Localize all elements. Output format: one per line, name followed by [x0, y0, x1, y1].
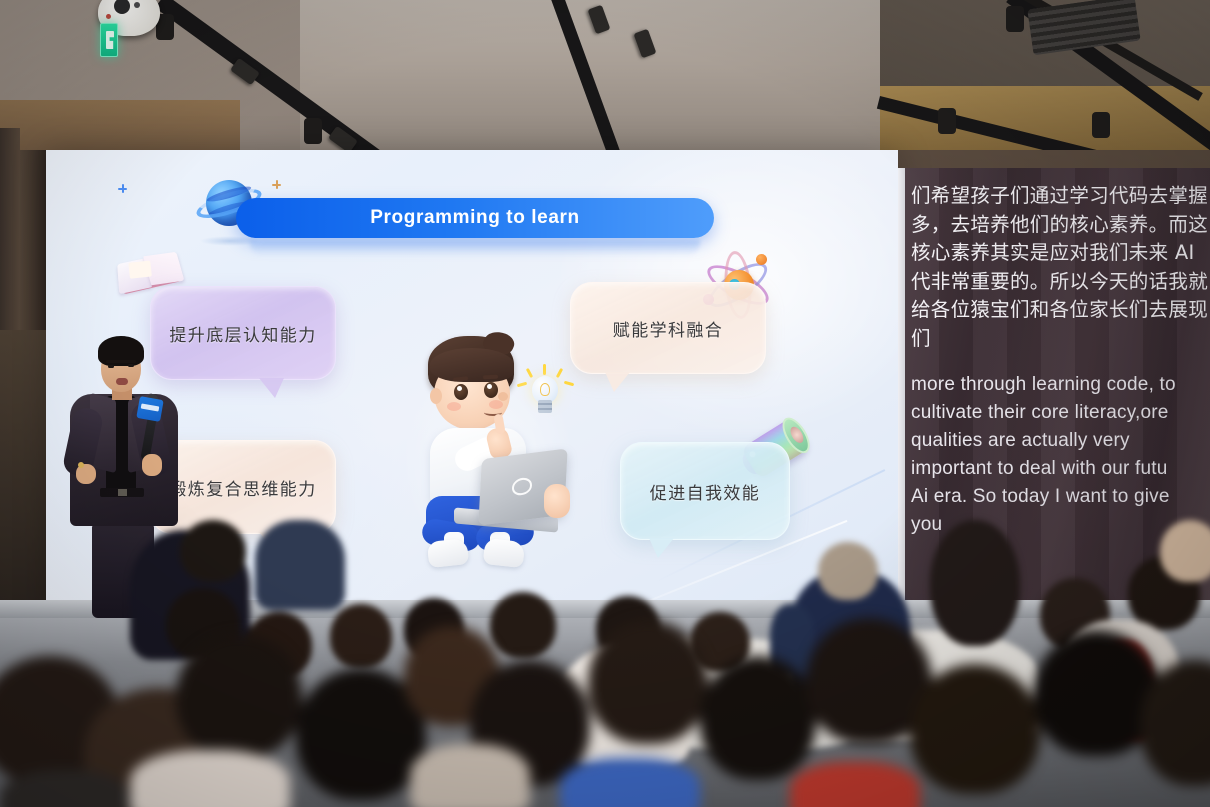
subtitle-line: important to deal with our futu — [911, 455, 1210, 483]
spotlight-icon — [938, 108, 956, 134]
presenter-hand — [142, 454, 162, 476]
sparkle-icon — [272, 180, 281, 189]
camera-lens-icon — [114, 0, 130, 14]
audience-clothing — [0, 770, 130, 807]
slide-bubble-fusion: 赋能学科融合 — [570, 282, 766, 374]
presenter-belt-buckle — [118, 489, 127, 496]
boy-eye-glint — [487, 384, 492, 389]
subtitle-line: more through learning code, to — [911, 371, 1210, 399]
camera-indicator-icon — [134, 2, 140, 8]
boy-hair-fringe — [430, 348, 514, 382]
subtitle-line: Ai era. So today I want to give — [911, 483, 1210, 511]
subtitle-line: 核心素养其实是应对我们未来 AI — [911, 239, 1210, 268]
presenter-ring — [78, 462, 84, 468]
presenter-mouth — [116, 378, 128, 385]
audience-head — [176, 634, 302, 758]
subtitle-line: 给各位猿宝们和各位家长们去展现 — [911, 296, 1210, 325]
presenter-eye — [128, 364, 134, 367]
audience-clothing — [410, 744, 530, 807]
sparkle-icon — [118, 184, 127, 193]
boy-ear — [430, 388, 442, 404]
spotlight-icon — [304, 118, 322, 144]
boy-eye-glint — [457, 386, 462, 391]
slide-title-text: Programming to learn — [370, 207, 579, 229]
subtitle-line: 代非常重要的。所以今天的话我就 — [911, 268, 1210, 297]
audience-head — [1160, 520, 1210, 582]
boy-cheek — [489, 400, 503, 409]
book-inner-page — [128, 261, 152, 279]
subtitle-english-block: more through learning code, to cultivate… — [911, 371, 1210, 539]
audience-clothing — [560, 758, 700, 807]
ceiling-beam — [548, 0, 629, 160]
audience-head — [588, 620, 708, 744]
audience-head — [910, 664, 1040, 794]
slide-title-banner: Programming to learn — [236, 198, 714, 238]
audience-head — [700, 656, 816, 780]
track-light-icon — [634, 29, 657, 59]
boy-nose — [498, 392, 508, 401]
boy-hand — [544, 484, 570, 518]
bubble-tail-icon — [259, 378, 284, 398]
presenter-eye — [108, 365, 114, 368]
audience-clothing — [790, 762, 920, 807]
spotlight-icon — [1006, 6, 1024, 32]
bubble-label: 赋能学科融合 — [613, 316, 723, 341]
status-indicator-dot — [106, 14, 111, 19]
subtitle-line: 多，去培养他们的核心素养。而这 — [911, 211, 1210, 240]
subtitle-line: cultivate their core literacy,ore — [911, 399, 1210, 427]
subtitle-line: qualities are actually very — [911, 427, 1210, 455]
ceiling — [0, 0, 1210, 160]
title-reflection — [250, 240, 700, 256]
presentation-scene: Programming to learn 提升底层 — [0, 0, 1210, 807]
presenter-eyebrow — [106, 360, 136, 363]
subtitle-line: 们 — [911, 325, 1210, 354]
audience-member — [255, 520, 345, 610]
subtitle-line: 们希望孩子们通过学习代码去掌握 — [911, 182, 1210, 211]
audience-clothing — [130, 750, 290, 807]
boy-cheek — [447, 402, 461, 411]
spotlight-icon — [1092, 112, 1110, 138]
atom-electron — [756, 254, 767, 265]
audience-head — [930, 520, 1020, 646]
track-light-icon — [588, 5, 611, 35]
audience-head — [180, 520, 246, 582]
audience-head — [818, 542, 878, 600]
emergency-exit-sign-icon — [100, 23, 118, 57]
bubble-tail-icon — [605, 372, 630, 392]
subtitle-chinese-block: 们希望孩子们通过学习代码去掌握 多，去培养他们的核心素养。而这 核心素养其实是应… — [911, 182, 1210, 353]
front-row-audience — [0, 640, 1210, 807]
bubble-label: 促进自我效能 — [650, 479, 760, 504]
